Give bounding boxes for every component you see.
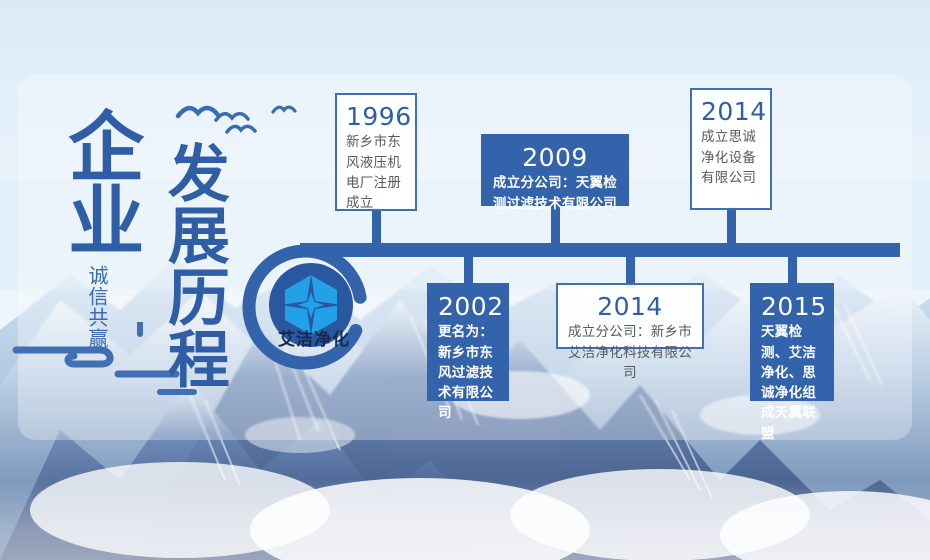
page-title-secondary: 发展历程 (163, 141, 222, 389)
milestone-card-2014-aijie[interactable]: 2014 成立分公司：新乡市艾洁净化科技有限公司 (556, 283, 704, 349)
milestone-card-1996[interactable]: 1996 新乡市东风液压机电厂注册成立 (335, 93, 417, 211)
page-slogan: 诚信共赢 (83, 265, 110, 349)
milestone-year: 2014 (567, 291, 693, 322)
timeline-bar (300, 243, 900, 257)
milestone-card-2002[interactable]: 2002 更名为：新乡市东风过滤技术有限公司 (427, 283, 509, 401)
milestone-year: 2015 (761, 291, 823, 322)
logo-text: 艾洁净化 (255, 325, 373, 350)
milestone-year: 2014 (701, 96, 761, 127)
infographic-stage: 企业 发展历程 诚信共赢 艾洁净化 1996 新乡市东风液压机电厂注册成立 (0, 0, 930, 560)
milestone-description: 新乡市东风液压机电厂注册成立 (346, 132, 406, 213)
milestone-description: 成立分公司：天翼检测过滤技术有限公司 (492, 173, 618, 214)
milestone-card-2015[interactable]: 2015 天翼检测、艾洁净化、思诚净化组成天翼联盟 (750, 283, 834, 401)
milestone-description: 成立思诚净化设备有限公司 (701, 127, 761, 188)
connector-stem-2014b (727, 207, 736, 248)
milestone-card-2014-sicheng[interactable]: 2014 成立思诚净化设备有限公司 (690, 88, 772, 210)
milestone-description: 更名为：新乡市东风过滤技术有限公司 (438, 322, 498, 423)
milestone-year: 1996 (346, 101, 406, 132)
connector-stem-1996 (372, 208, 381, 248)
milestone-description: 天翼检测、艾洁净化、思诚净化组成天翼联盟 (761, 322, 823, 444)
milestone-year: 2009 (492, 142, 618, 173)
milestone-year: 2002 (438, 291, 498, 322)
milestone-card-2009[interactable]: 2009 成立分公司：天翼检测过滤技术有限公司 (481, 134, 629, 206)
company-logo: 艾洁净化 (233, 243, 383, 375)
milestone-description: 成立分公司：新乡市艾洁净化科技有限公司 (567, 322, 693, 383)
page-title-primary: 企业 (63, 107, 135, 255)
